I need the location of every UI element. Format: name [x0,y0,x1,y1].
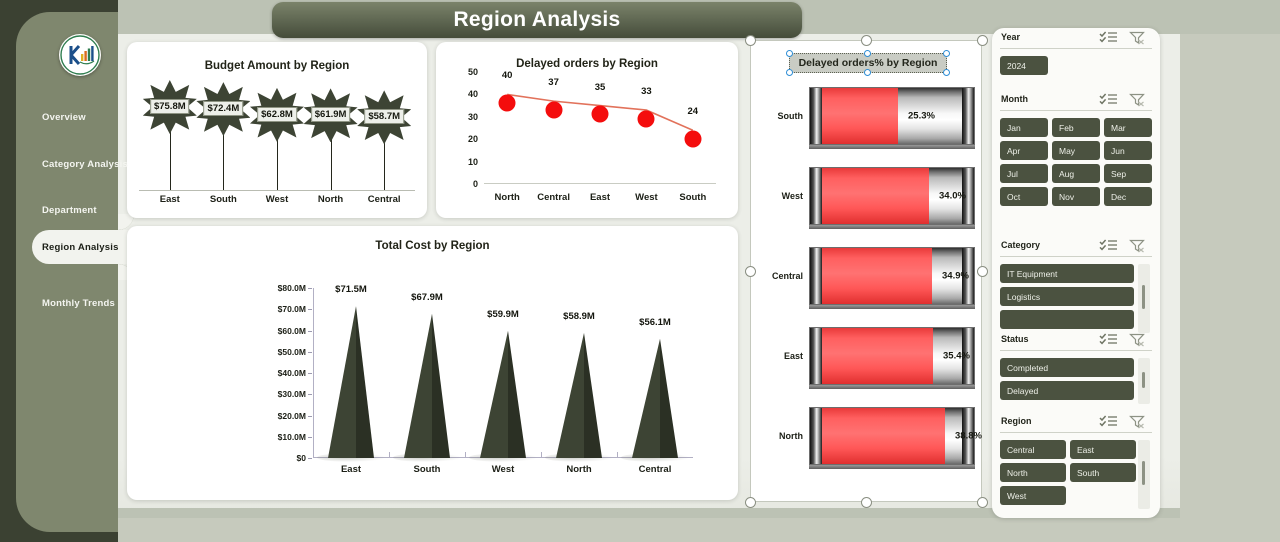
cost-bar[interactable]: $71.5M [313,288,389,458]
slicer-item[interactable]: Mar [1104,118,1152,137]
budget-stem [277,134,278,190]
y-axis-tick-label: $70.0M [278,304,306,314]
budget-value-label: $75.8M [150,99,190,114]
budget-stem [331,134,332,190]
gauge-value-label: 25.3% [908,111,935,122]
title-handle-ne[interactable] [943,50,950,57]
data-point-label: 33 [641,86,652,97]
gauge-cylinder: 38.8% [809,407,975,465]
gauge-cap-left [810,328,822,384]
gauge-category-label: South [759,111,803,121]
gauge-row[interactable]: West34.0% [751,163,983,229]
gauge-row[interactable]: South25.3% [751,83,983,149]
gauge-value-label: 35.4% [943,351,970,362]
data-point[interactable] [638,110,655,127]
y-axis-tick [308,458,312,459]
delayed-orders-category-labels: NorthCentralEastWestSouth [484,192,716,203]
slicer-items: CentralEastNorthSouthWest [1000,440,1136,505]
y-axis-tick-label: $80.0M [278,283,306,293]
y-axis-tick [308,394,312,395]
data-point[interactable] [684,130,701,147]
scrollbar-thumb[interactable] [1142,372,1145,388]
delayed-orders-pct-chart[interactable]: Delayed orders% by Region South25.3%West… [750,40,982,502]
gauge-base [809,385,975,389]
slicer-divider [1000,256,1152,257]
category-label: Central [530,192,576,203]
budget-value-label: $58.7M [364,109,404,124]
sidebar-item-region-analysis[interactable]: Region Analysis [16,230,134,264]
budget-marker[interactable]: $58.7M [357,76,411,190]
cone-shape [632,339,678,458]
delayed-orders-plot-area: 010203040504037353324 [484,72,716,184]
gauge-row[interactable]: Central34.9% [751,243,983,309]
gauge-cylinder: 34.0% [809,167,975,225]
category-label: East [577,192,623,203]
y-axis-tick [308,309,312,310]
slicer-divider [1000,350,1152,351]
cost-bar[interactable]: $67.9M [389,288,465,458]
checklist-icon[interactable] [1099,31,1118,49]
sidebar-item-label: Department [42,205,97,216]
y-axis-tick-label: $60.0M [278,326,306,336]
filter-panel: Year2024MonthJanFebMarAprMayJunJulAugSep… [992,28,1160,518]
gauge-cap-left [810,88,822,144]
slicer-item[interactable]: Sep [1104,164,1152,183]
gauge-cylinder: 34.9% [809,247,975,305]
slicer-item[interactable]: Central [1000,440,1066,459]
gauge-cap-right [962,88,974,144]
budget-marker[interactable]: $72.4M [197,76,251,190]
cost-bar[interactable]: $59.9M [465,288,541,458]
y-axis-tick [308,352,312,353]
y-axis-tick-label: $50.0M [278,347,306,357]
data-point-label: 24 [688,106,699,117]
budget-value-label: $62.8M [257,107,297,122]
cone-left-face [404,314,432,458]
slicer-item[interactable]: Aug [1052,164,1100,183]
y-axis-tick-label: $30.0M [278,389,306,399]
company-logo-icon [59,34,101,76]
chart-title: Delayed orders% by Region [799,57,938,69]
category-label: South [670,192,716,203]
slicer-item[interactable] [1000,310,1134,329]
category-label: North [304,194,358,205]
checklist-icon[interactable] [1099,415,1118,433]
category-label: South [197,194,251,205]
chart-title: Delayed orders by Region [436,58,738,70]
sidebar-item-overview[interactable]: Overview [16,100,134,134]
cost-value-label: $59.9M [487,309,519,320]
page-title: Region Analysis [272,2,802,38]
visual-handle-se[interactable] [977,497,988,508]
gauge-cylinder: 25.3% [809,87,975,145]
cone-right-face [584,333,602,458]
slicer-item[interactable]: North [1000,463,1066,482]
cost-value-label: $58.9M [563,311,595,322]
gauge-category-label: East [759,351,803,361]
sidebar-item-category-analysis[interactable]: Category Analysis [16,147,134,181]
gauge-cap-left [810,408,822,464]
gauge-base [809,145,975,149]
category-label: North [484,192,530,203]
checklist-icon[interactable] [1099,239,1118,257]
gauge-value-label: 34.9% [942,271,969,282]
slicer-divider [1000,432,1152,433]
y-axis-tick-label: $0 [297,453,306,463]
sidebar-item-label: Overview [42,112,86,123]
slicer-item[interactable]: East [1070,440,1136,459]
sidebar-item-monthly-trends[interactable]: Monthly Trends [16,286,134,320]
cone-right-face [508,331,526,458]
cone-right-face [356,306,374,458]
category-label: North [541,464,617,475]
slicer-item[interactable]: 2024 [1000,56,1048,75]
slicer-divider [1000,48,1152,49]
slicer-items: 2024 [1000,56,1048,75]
category-label: West [465,464,541,475]
data-point-label: 35 [595,82,606,93]
gauge-fill [810,248,932,304]
total-cost-chart[interactable]: Total Cost by Region $0$10.0M$20.0M$30.0… [127,226,738,500]
gauge-category-label: Central [759,271,803,281]
budget-stem [223,128,224,190]
budget-stem [170,126,171,190]
slicer-scrollbar[interactable] [1138,264,1150,333]
budget-axis-line [139,190,415,191]
y-axis-tick [308,331,312,332]
sidebar-item-department[interactable]: Department [16,193,134,227]
category-label: West [250,194,304,205]
visual-handle-ne[interactable] [977,35,988,46]
cone-left-face [556,333,584,458]
visual-handle-w[interactable] [745,266,756,277]
y-axis-tick-label: $10.0M [278,432,306,442]
slicer-item[interactable]: Jun [1104,141,1152,160]
checklist-icon[interactable] [1099,93,1118,111]
total-cost-plot-area: $0$10.0M$20.0M$30.0M$40.0M$50.0M$60.0M$7… [313,288,693,458]
y-axis-tick-label: 50 [468,67,478,77]
cost-value-label: $71.5M [335,284,367,295]
slicer-item[interactable]: Apr [1000,141,1048,160]
category-label: East [143,194,197,205]
gauge-fill [810,168,929,224]
y-axis-tick-label: 20 [468,134,478,144]
slicer-item[interactable]: Nov [1052,187,1100,206]
gauge-base [809,225,975,229]
y-axis-tick-label: 10 [468,157,478,167]
checklist-icon[interactable] [1099,333,1118,351]
data-point-label: 40 [502,70,513,81]
data-point[interactable] [499,94,516,111]
budget-category-labels: EastSouthWestNorthCentral [143,194,411,205]
chart-title: Total Cost by Region [127,240,738,252]
slicer-items: JanFebMarAprMayJunJulAugSepOctNovDec [1000,118,1152,206]
data-point[interactable] [592,106,609,123]
y-axis-tick [308,373,312,374]
slicer-item[interactable]: West [1000,486,1066,505]
dashboard-page: Overview Category Analysis Department Re… [0,0,1280,542]
category-label: West [623,192,669,203]
slicer-item[interactable]: Oct [1000,187,1048,206]
slicer-scrollbar[interactable] [1138,358,1150,404]
slicer-item[interactable]: Logistics [1000,287,1134,306]
cone-shape [480,331,526,458]
slicer-item[interactable]: Completed [1000,358,1134,377]
slicer-title: Category [1001,240,1040,250]
scrollbar-thumb[interactable] [1142,285,1145,309]
y-axis-tick-label: 30 [468,112,478,122]
gauge-row[interactable]: East35.4% [751,323,983,389]
y-axis-tick-label: $40.0M [278,368,306,378]
cost-value-label: $67.9M [411,292,443,303]
slicer-title: Status [1001,334,1029,344]
y-axis-tick [308,437,312,438]
gauge-base [809,305,975,309]
category-label: South [389,464,465,475]
slicer-title: Year [1001,32,1020,42]
cost-value-label: $56.1M [639,317,671,328]
data-point[interactable] [545,101,562,118]
visual-handle-n[interactable] [861,35,872,46]
cone-left-face [480,331,508,458]
slicer-item[interactable]: IT Equipment [1000,264,1134,283]
budget-marker[interactable]: $75.8M [143,76,197,190]
gauge-fill [810,408,945,464]
visual-handle-nw[interactable] [745,35,756,46]
slicer-item[interactable]: Jul [1000,164,1048,183]
gauge-cylinder: 35.4% [809,327,975,385]
slicer-title: Region [1001,416,1032,426]
cone-right-face [660,339,678,458]
cone-right-face [432,314,450,458]
visual-handle-e[interactable] [977,266,988,277]
data-point-label: 37 [548,77,559,88]
budget-stem [384,136,385,190]
budget-value-label: $61.9M [311,107,351,122]
title-handle-se[interactable] [943,69,950,76]
category-label: Central [617,464,693,475]
slicer-item[interactable]: Dec [1104,187,1152,206]
budget-amount-chart[interactable]: Budget Amount by Region $75.8M$72.4M$62.… [127,42,427,218]
category-label: Central [357,194,411,205]
title-handle-n[interactable] [864,50,871,57]
sidebar: Overview Category Analysis Department Re… [16,12,118,532]
gauge-category-label: West [759,191,803,201]
slicer-item[interactable]: South [1070,463,1136,482]
gauge-category-label: North [759,431,803,441]
gauge-fill [810,328,933,384]
slicer-scrollbar[interactable] [1138,440,1150,509]
y-axis-tick [308,416,312,417]
y-axis-tick [308,288,312,289]
title-handle-s[interactable] [864,69,871,76]
gauge-value-label: 34.0% [939,191,966,202]
scrollbar-thumb[interactable] [1142,461,1145,485]
budget-plot-area: $75.8M$72.4M$62.8M$61.9M$58.7M [143,76,411,190]
total-cost-category-labels: EastSouthWestNorthCentral [313,464,693,475]
chart-title: Budget Amount by Region [127,60,427,72]
budget-marker[interactable]: $61.9M [304,76,358,190]
slicer-item[interactable]: Delayed [1000,381,1134,400]
title-handle-sw[interactable] [786,69,793,76]
y-axis-tick-label: 0 [473,179,478,189]
slicer-item[interactable]: May [1052,141,1100,160]
gauge-value-label: 38.8% [955,431,982,442]
gauge-row[interactable]: North38.8% [751,403,983,469]
cone-shape [404,314,450,458]
slicer-item[interactable]: Jan [1000,118,1048,137]
slicer-item[interactable]: Feb [1052,118,1100,137]
cost-bar[interactable]: $56.1M [617,288,693,458]
gauge-cap-left [810,248,822,304]
visual-handle-s[interactable] [861,497,872,508]
cone-shape [328,306,374,458]
slicer-divider [1000,110,1152,111]
sidebar-item-label: Monthly Trends [42,298,115,309]
sidebar-item-label: Category Analysis [42,159,128,170]
cone-shape [556,333,602,458]
budget-marker[interactable]: $62.8M [250,76,304,190]
cone-left-face [632,339,660,458]
slicer-items: CompletedDelayed [1000,358,1134,400]
bottom-backdrop-band [0,518,1280,542]
gauge-fill [810,88,898,144]
gauge-base [809,465,975,469]
cone-left-face [328,306,356,458]
category-label: East [313,464,389,475]
slicer-items: IT EquipmentLogistics [1000,264,1134,329]
y-axis-tick-label: 40 [468,89,478,99]
chart-title-editor[interactable]: Delayed orders% by Region [789,53,947,73]
sidebar-item-label: Region Analysis [42,242,119,253]
visual-handle-sw[interactable] [745,497,756,508]
budget-value-label: $72.4M [204,101,244,116]
delayed-orders-chart[interactable]: Delayed orders by Region 010203040504037… [436,42,738,218]
title-handle-nw[interactable] [786,50,793,57]
cost-bar[interactable]: $58.9M [541,288,617,458]
gauge-cap-left [810,168,822,224]
y-axis-tick-label: $20.0M [278,411,306,421]
slicer-title: Month [1001,94,1028,104]
